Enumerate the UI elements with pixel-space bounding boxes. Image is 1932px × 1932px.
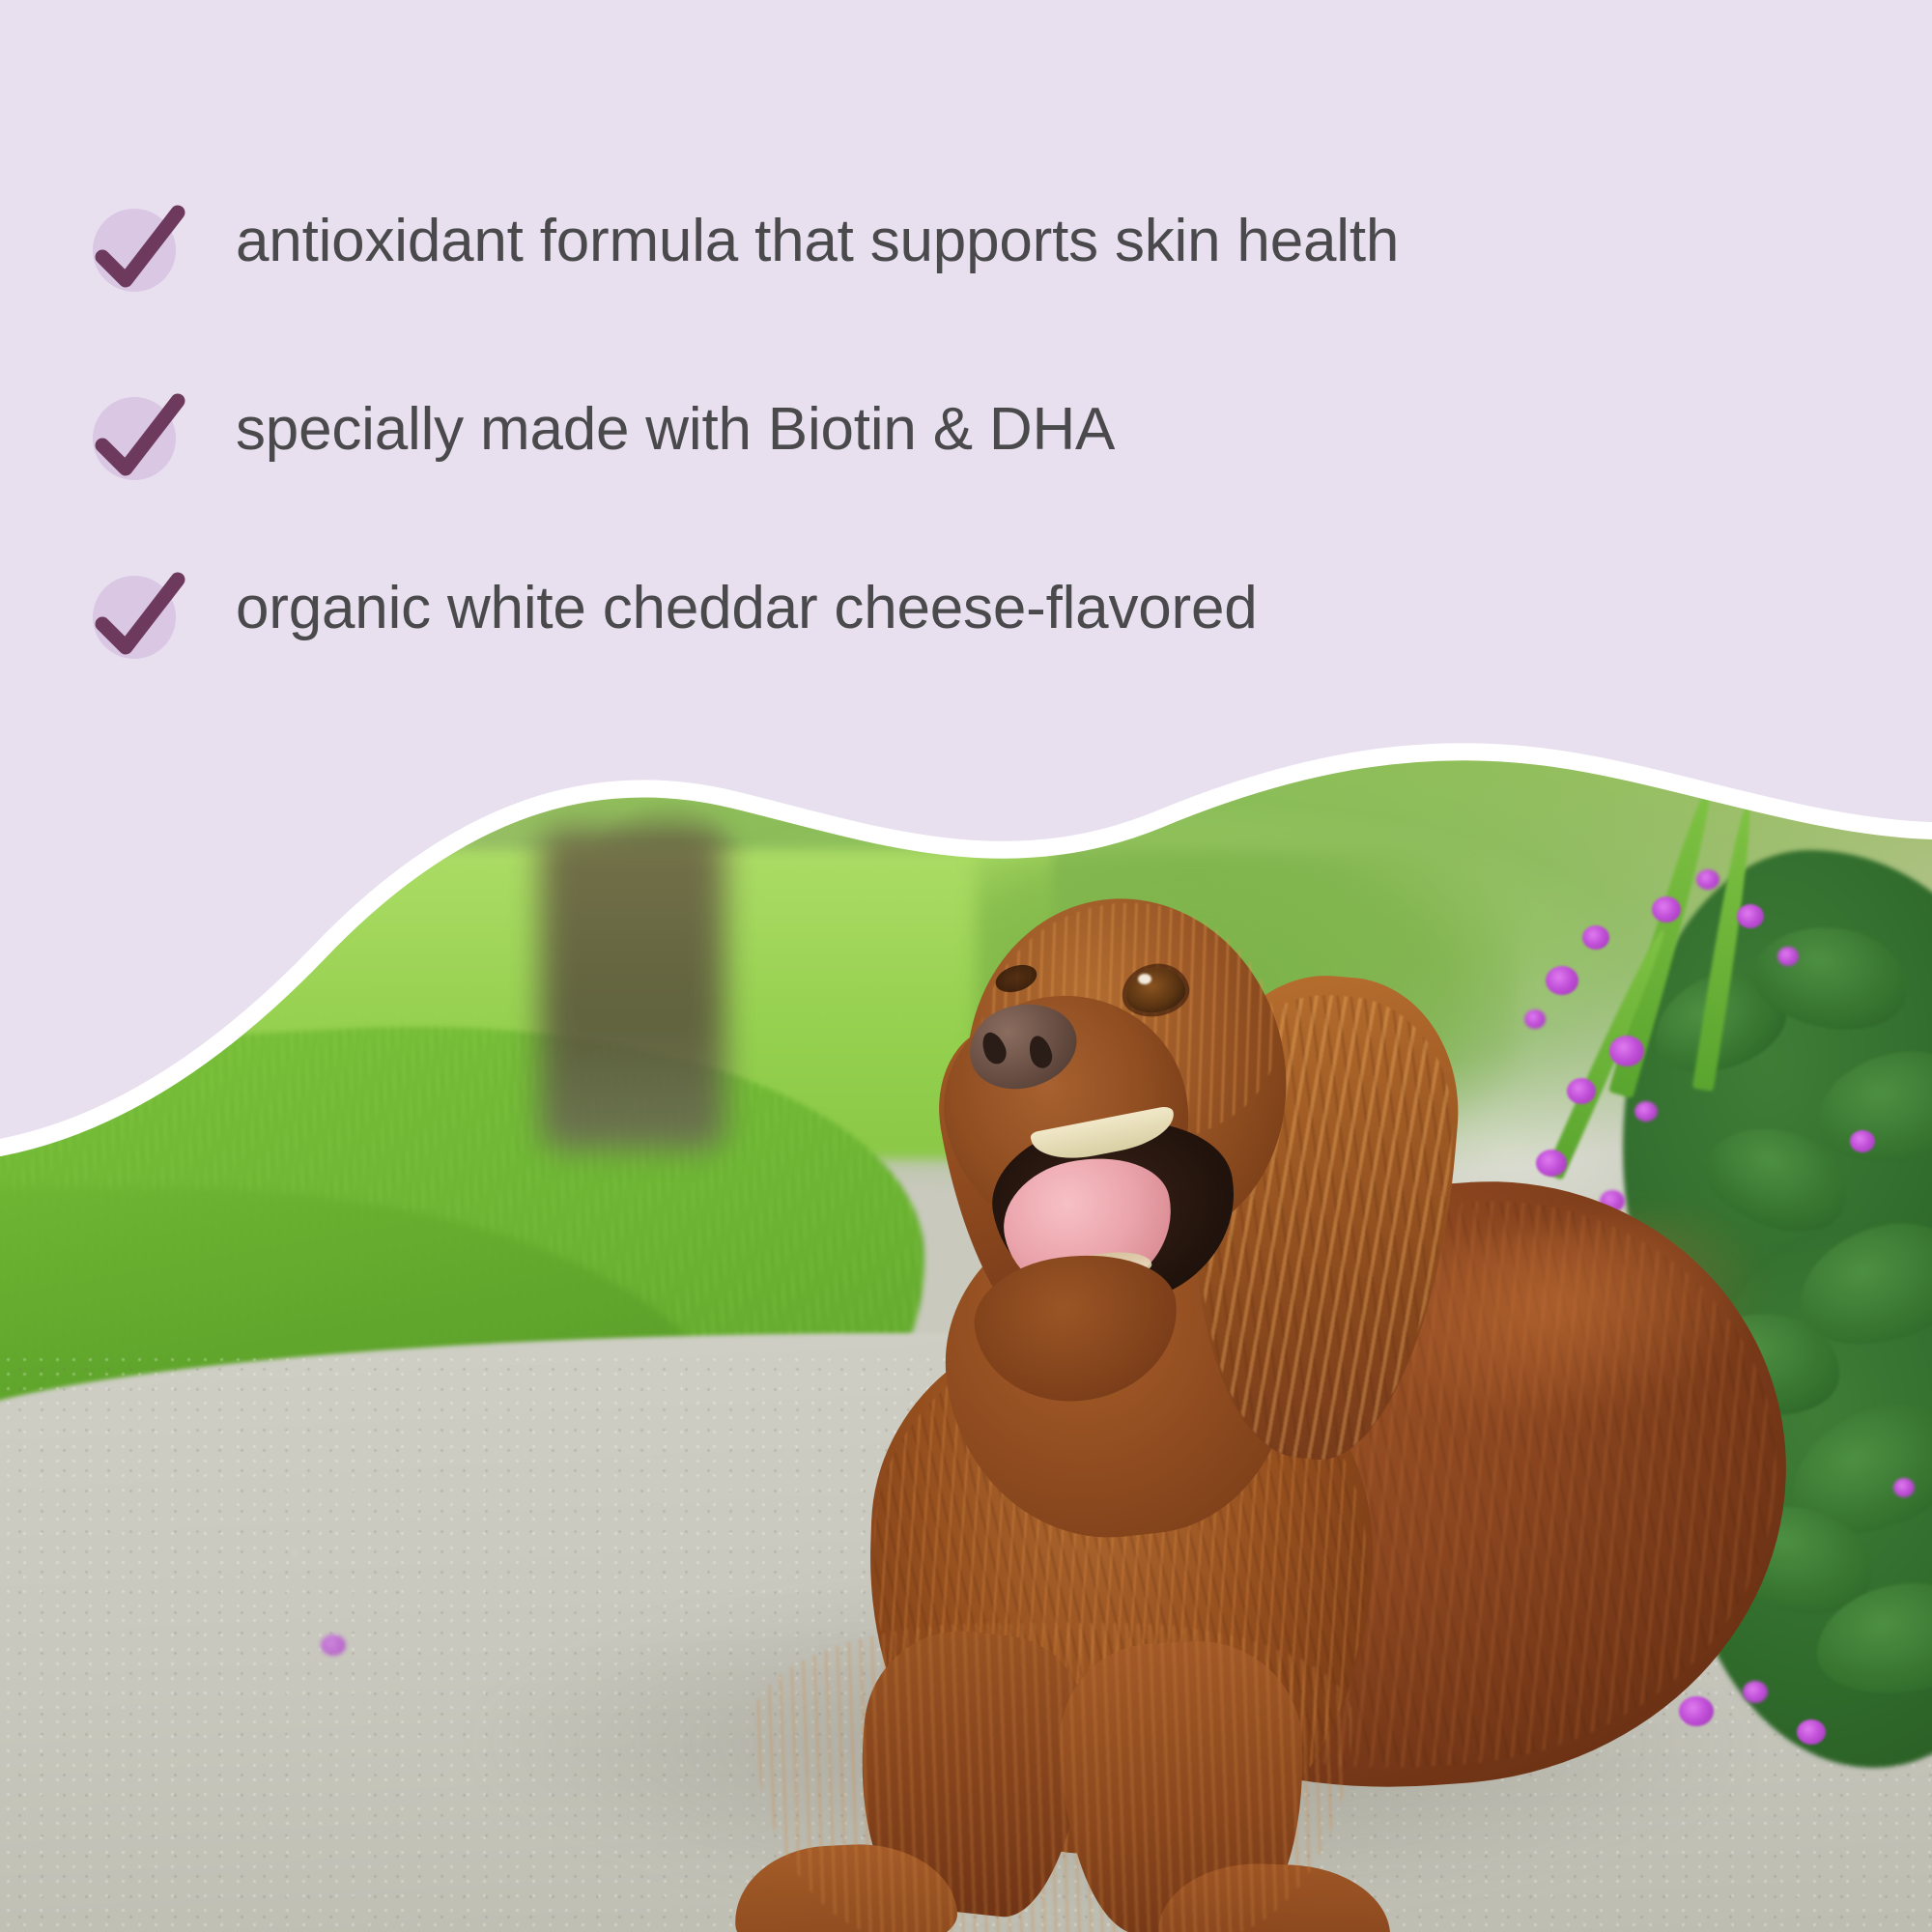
benefit-label: antioxidant formula that supports skin h… bbox=[236, 210, 1399, 272]
benefit-label: specially made with Biotin & DHA bbox=[236, 398, 1115, 461]
check-icon-glyph bbox=[85, 558, 185, 659]
product-benefits-graphic: antioxidant formula that supports skin h… bbox=[0, 0, 1932, 1932]
benefit-item-3: organic white cheddar cheese-flavored bbox=[85, 551, 1258, 667]
check-icon bbox=[85, 380, 185, 480]
check-icon-glyph bbox=[85, 380, 185, 480]
benefit-item-1: antioxidant formula that supports skin h… bbox=[85, 184, 1399, 299]
dog-eye-highlight bbox=[1138, 974, 1151, 984]
benefit-label: organic white cheddar cheese-flavored bbox=[236, 577, 1258, 639]
benefit-item-2: specially made with Biotin & DHA bbox=[85, 372, 1115, 488]
check-icon bbox=[85, 558, 185, 659]
check-icon-glyph bbox=[85, 191, 185, 292]
check-icon bbox=[85, 191, 185, 292]
dog-leg-feathering bbox=[753, 1623, 1352, 1932]
